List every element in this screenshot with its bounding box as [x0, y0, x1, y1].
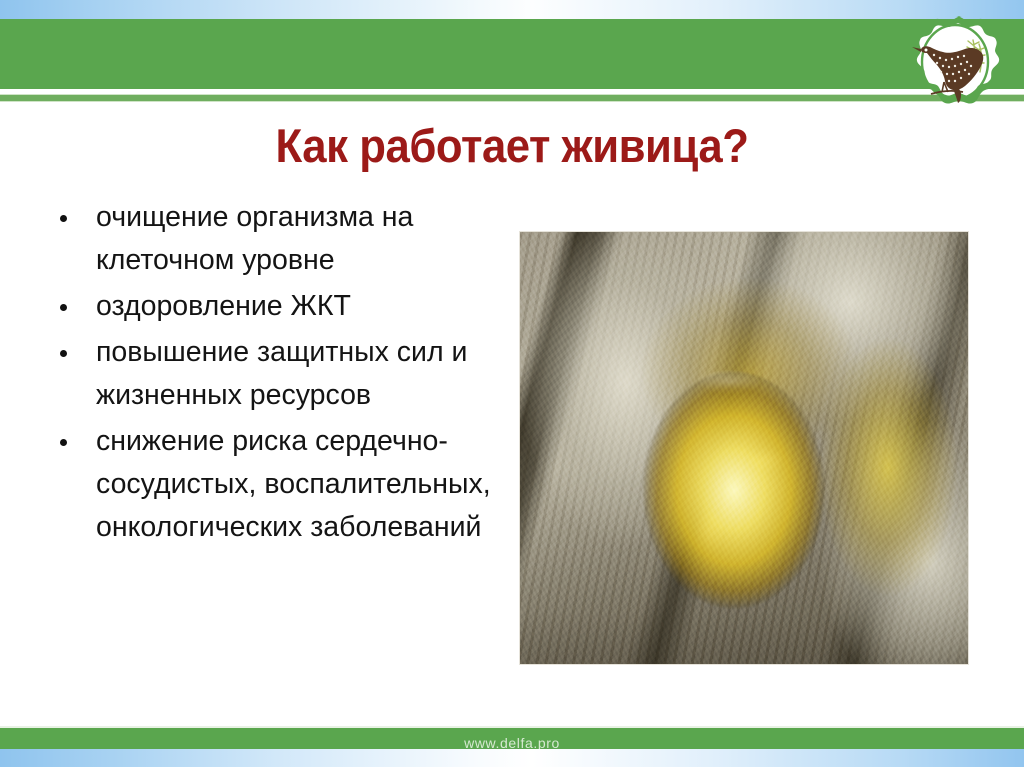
benefits-list: очищение организма на клеточном уровне о…	[44, 196, 494, 552]
list-item-label: снижение риска сердечно-сосудистых, восп…	[96, 425, 491, 543]
bullet-dot-icon	[60, 439, 67, 446]
list-item: очищение организма на клеточном уровне	[44, 196, 494, 282]
resin-photo-texture	[520, 232, 968, 664]
bottom-blue-band	[0, 749, 1024, 767]
list-item-label: очищение организма на клеточном уровне	[96, 201, 413, 276]
list-item: оздоровление ЖКТ	[44, 285, 494, 328]
top-green-rule	[0, 94, 1024, 102]
top-green-band	[0, 19, 1024, 89]
list-item: повышение защитных сил и жизненных ресур…	[44, 331, 494, 417]
list-item: снижение риска сердечно-сосудистых, восп…	[44, 420, 494, 549]
bird-emblem-icon	[899, 14, 1011, 110]
slide: Как работает живица? очищение организма …	[0, 0, 1024, 767]
resin-photo	[520, 232, 968, 664]
page-title: Как работает живица?	[36, 118, 988, 173]
list-item-label: повышение защитных сил и жизненных ресур…	[96, 336, 467, 411]
bullet-dot-icon	[60, 350, 67, 357]
list-item-label: оздоровление ЖКТ	[96, 290, 351, 322]
bullet-dot-icon	[60, 304, 67, 311]
top-blue-band	[0, 0, 1024, 19]
bullet-dot-icon	[60, 215, 67, 222]
